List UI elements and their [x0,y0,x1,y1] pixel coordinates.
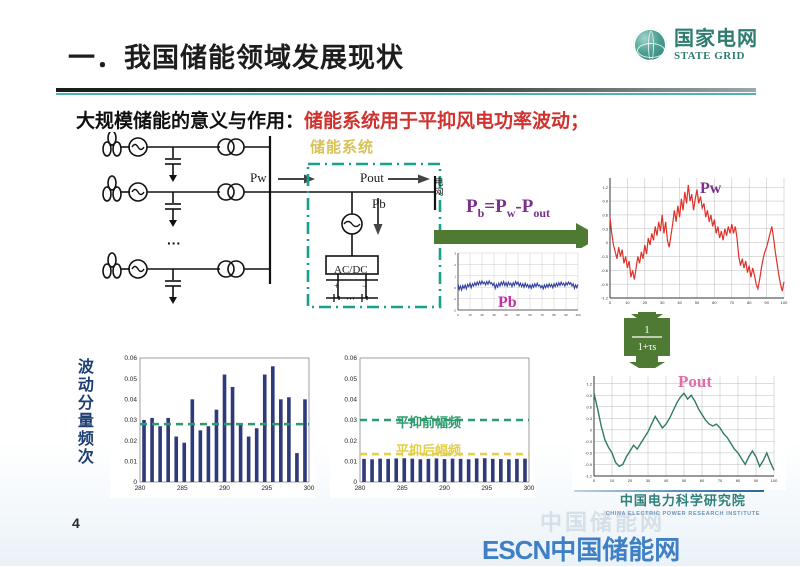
svg-text:300: 300 [304,485,315,492]
svg-text:0.6: 0.6 [602,213,608,218]
svg-text:290: 290 [219,485,230,492]
svg-text:0.03: 0.03 [344,417,357,424]
svg-text:60: 60 [700,478,705,483]
power-balance-formula: Pb=Pw-Pout [466,196,550,221]
svg-text:-0.6: -0.6 [585,451,593,456]
svg-text:10: 10 [625,300,630,305]
svg-text:···: ··· [346,294,355,304]
subtitle-highlight: 储能系统用于平抑风电功率波动； [304,111,589,132]
svg-text:20: 20 [480,313,484,317]
svg-text:0.6: 0.6 [586,404,592,409]
before-smoothing-annotation: 平抑前幅频 [396,412,461,431]
watermark-en: ESCN [482,535,550,565]
svg-text:20: 20 [643,300,648,305]
institute-divider [574,490,764,492]
svg-text:80: 80 [747,300,752,305]
svg-text:0.3: 0.3 [586,416,592,421]
svg-text:-0.6: -0.6 [601,268,609,273]
pw-label: Pw [250,170,267,186]
wind-storage-single-line-diagram: + − ··· ··· [100,132,450,322]
logo-label-cn: 国家电网 [674,29,758,49]
svg-text:−: − [362,281,367,291]
svg-text:0.06: 0.06 [344,355,357,362]
globe-icon [633,28,667,62]
page-title: 一．我国储能领域发展现状 [68,36,404,75]
converter-label: AC/DC [334,264,368,276]
svg-text:-1.2: -1.2 [585,474,593,479]
svg-text:-0.9: -0.9 [601,282,609,287]
ellipsis-feeders: ··· [167,235,181,251]
subtitle-lead: 大规模储能的意义与作用： [76,111,304,132]
svg-text:0.04: 0.04 [124,397,137,404]
watermark: ESCN中国储能网 [482,530,680,567]
watermark-cn: 中国储能网 [550,535,680,565]
svg-text:40: 40 [504,313,508,317]
svg-text:0.01: 0.01 [124,459,137,466]
pw-flow-arrow [278,175,315,184]
pb-chart: 0102030405060708090100-2-10123 [444,248,584,320]
svg-text:-1.2: -1.2 [601,296,609,301]
svg-text:70: 70 [730,300,735,305]
svg-text:0.9: 0.9 [602,199,608,204]
logo-label-en: STATE GRID [674,51,758,62]
svg-text:100: 100 [575,313,580,317]
pout-chart: 0102030405060708090100-1.2-0.9-0.6-0.300… [572,368,786,490]
svg-text:-2: -2 [453,309,456,313]
svg-text:+: + [334,281,339,291]
wind-feeder-1 [103,132,270,182]
svg-text:295: 295 [481,485,492,492]
svg-text:50: 50 [516,313,520,317]
svg-text:90: 90 [564,313,568,317]
svg-text:280: 280 [135,485,146,492]
svg-text:0.3: 0.3 [602,226,608,231]
svg-text:0.01: 0.01 [344,459,357,466]
pw-chart: 0102030405060708090100-1.2-0.9-0.6-0.300… [588,170,794,312]
wind-feeder-2 [103,176,270,227]
title-divider-accent [56,93,756,95]
svg-text:80: 80 [552,313,556,317]
svg-text:1.2: 1.2 [602,185,608,190]
svg-text:-0.3: -0.3 [585,439,593,444]
transfer-function-block: 1 1+τs [618,318,676,374]
svg-text:40: 40 [677,300,682,305]
svg-text:-1: -1 [453,297,456,301]
svg-text:30: 30 [492,313,496,317]
svg-text:90: 90 [754,478,759,483]
svg-text:30: 30 [646,478,651,483]
subtitle: 大规模储能的意义与作用：储能系统用于平抑风电功率波动； [76,106,589,133]
wind-feeder-3 [103,253,270,304]
after-smoothing-annotation: 平抑后幅频 [396,440,461,459]
svg-text:10: 10 [610,478,615,483]
svg-text:280: 280 [355,485,366,492]
pout-label: Pout [360,170,384,186]
svg-text:0.05: 0.05 [124,376,137,383]
svg-text:100: 100 [771,478,778,483]
svg-text:0.06: 0.06 [124,355,137,362]
svg-text:1.2: 1.2 [586,381,592,386]
svg-text:-0.3: -0.3 [601,254,609,259]
pb-label: Pb [372,196,386,212]
svg-text:90: 90 [764,300,769,305]
svg-text:60: 60 [528,313,532,317]
svg-text:70: 70 [718,478,723,483]
svg-text:10: 10 [468,313,472,317]
svg-text:100: 100 [781,300,788,305]
transfer-denominator: 1+τs [638,342,657,353]
title-divider [56,88,756,92]
svg-text:0.02: 0.02 [344,438,357,445]
svg-text:0.03: 0.03 [124,417,137,424]
svg-text:70: 70 [540,313,544,317]
fluctuation-before-chart: 00.010.020.030.040.050.06 28028529029530… [110,350,315,498]
svg-text:80: 80 [736,478,741,483]
svg-text:20: 20 [628,478,633,483]
slide-canvas: 一．我国储能领域发展现状 国家电网 STATE GRID 大规模储能的意义与作用… [0,0,800,566]
svg-text:30: 30 [660,300,665,305]
svg-text:300: 300 [524,485,535,492]
svg-text:50: 50 [695,300,700,305]
svg-text:295: 295 [261,485,272,492]
svg-text:-0.9: -0.9 [585,462,593,467]
pout-flow-arrow [388,175,430,184]
svg-text:0.9: 0.9 [586,393,592,398]
svg-text:285: 285 [397,485,408,492]
bar-chart-y-axis-label: 波动分量频次 [74,358,92,466]
svg-text:40: 40 [664,478,669,483]
svg-text:0.04: 0.04 [344,397,357,404]
grid-label: 电网 [433,177,442,197]
svg-text:0.02: 0.02 [124,438,137,445]
svg-text:50: 50 [682,478,687,483]
page-number: 4 [72,515,80,531]
svg-text:60: 60 [712,300,717,305]
svg-text:0.05: 0.05 [344,376,357,383]
svg-text:290: 290 [439,485,450,492]
svg-text:285: 285 [177,485,188,492]
state-grid-logo: 国家电网 STATE GRID [633,28,758,62]
transfer-numerator: 1 [644,324,650,336]
